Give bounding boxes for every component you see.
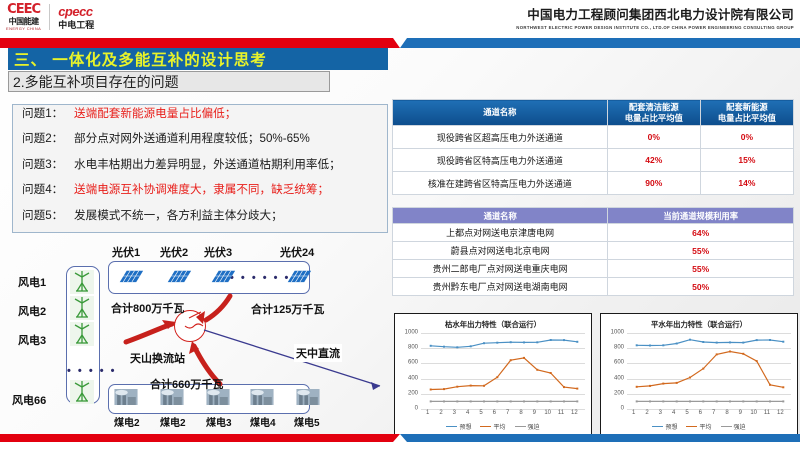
chart-legend-item: 平均 <box>686 422 711 431</box>
table-cell-channel-name: 核准在建跨省区特高压电力外送通道 <box>393 172 608 195</box>
chart-x-tick-label: 6 <box>699 410 702 416</box>
chart-legend-label: 强迫 <box>528 422 540 431</box>
chart-y-tick-label: 0 <box>396 406 418 412</box>
chart-legend-label: 平均 <box>493 422 505 431</box>
problem-label: 问题5： <box>22 207 74 223</box>
header-accent-notch <box>393 38 407 48</box>
chart-data-point <box>702 341 704 343</box>
chart-data-point <box>443 388 445 390</box>
chart-data-point <box>456 400 458 402</box>
chart-data-point <box>716 353 718 355</box>
table-cell-new-share: 0% <box>700 126 793 149</box>
chart-data-point <box>443 400 445 402</box>
table-column-header: 当前通道规模利用率 <box>608 208 794 224</box>
table-row: 贵州二郎电厂点对网送电重庆电网55% <box>393 260 794 278</box>
coal-plant-label: 煤电2 <box>160 414 186 429</box>
chart-data-point <box>782 400 784 402</box>
chart-series-layer <box>421 333 587 409</box>
problem-label: 问题1： <box>22 105 74 121</box>
chart-data-point <box>782 386 784 388</box>
chart-legend-label: 平均 <box>699 422 711 431</box>
footer-accent-notch <box>393 434 407 442</box>
table-row: 现役跨省区特高压电力外送通道42%15% <box>393 149 794 172</box>
wind-farm-label: 风电2 <box>18 303 46 319</box>
chart-legend-swatch <box>721 426 732 427</box>
chart-data-point <box>536 400 538 402</box>
table-cell-channel-name: 贵州黔东电厂点对网送电湖南电网 <box>393 278 608 296</box>
wind-farm-label: 风电1 <box>18 274 46 290</box>
chart-data-point <box>702 400 704 402</box>
cpecc-mark-text: cpecc <box>58 5 94 18</box>
chart-data-point <box>702 368 704 370</box>
problem-text: 发展模式不统一，各方利益主体分歧大； <box>74 207 283 223</box>
chart-data-point <box>742 342 744 344</box>
table-column-header-line: 电量占比平均值 <box>608 113 700 123</box>
chart-x-tick-label: 3 <box>453 410 456 416</box>
table-column-header: 通道名称 <box>393 208 608 224</box>
chart-x-tick-label: 4 <box>672 410 675 416</box>
table-row: 蔚县点对网送电北京电网55% <box>393 242 794 260</box>
chart-data-point <box>563 339 565 341</box>
chart-y-tick-label: 600 <box>602 360 624 366</box>
table-header-row: 通道名称配套清洁能源电量占比平均值配套新能源电量占比平均值 <box>393 100 794 126</box>
table-cell-clean-share: 90% <box>607 172 700 195</box>
chart-x-tick-label: 11 <box>558 410 564 416</box>
table-column-header-line: 配套清洁能源 <box>608 102 700 112</box>
footer-base <box>0 442 800 450</box>
wind-turbine-icon <box>70 270 94 294</box>
pv-plant-label: 光伏3 <box>204 244 232 260</box>
problem-item: 问题5：发展模式不统一，各方利益主体分歧大； <box>13 207 387 232</box>
chart-y-tick-label: 400 <box>396 375 418 381</box>
chart-legend-swatch <box>515 426 526 427</box>
chart-data-point <box>483 400 485 402</box>
chart-data-point <box>550 400 552 402</box>
chart-data-point <box>523 357 525 359</box>
chart-x-tick-label: 2 <box>645 410 648 416</box>
problem-label: 问题3： <box>22 156 74 172</box>
channel-utilization-table: 通道名称当前通道规模利用率 上都点对网送电京津唐电网64%蔚县点对网送电北京电网… <box>392 207 794 296</box>
chart-y-tick-label: 200 <box>396 390 418 396</box>
chart-legend-swatch <box>652 426 663 427</box>
company-name-en: NORTHWEST ELECTRIC POWER DESIGN INSTITUT… <box>516 25 794 30</box>
chart-data-point <box>756 339 758 341</box>
chart-y-tick-label: 400 <box>602 375 624 381</box>
table-row: 上都点对网送电京津唐电网64% <box>393 224 794 242</box>
chart-data-point <box>649 400 651 402</box>
chart-data-point <box>756 360 758 362</box>
coal-plant-label: 煤电2 <box>114 414 140 429</box>
chart-legend-item: 预想 <box>652 422 677 431</box>
chart-x-tick-label: 5 <box>685 410 688 416</box>
table-cell-utilization-rate: 50% <box>608 278 794 296</box>
chart-data-point <box>576 341 578 343</box>
chart-x-tick-label: 12 <box>571 410 578 416</box>
table-cell-clean-share: 0% <box>607 126 700 149</box>
chart-data-point <box>649 345 651 347</box>
chart-series-line <box>431 358 578 390</box>
problem-text: 水电丰枯期出力差异明显，外送通道枯期利用率低； <box>74 156 341 172</box>
chart-series-line <box>637 340 784 346</box>
chart-plot-area: 02004006008001000 <box>421 333 587 409</box>
coal-plant-label: 煤电5 <box>294 414 320 429</box>
chart-legend-item: 平均 <box>480 422 505 431</box>
chart-legend-label: 预想 <box>459 422 471 431</box>
coal-plant-icon <box>250 389 274 405</box>
table-cell-channel-name: 上都点对网送电京津唐电网 <box>393 224 608 242</box>
chart-legend-item: 强迫 <box>515 422 540 431</box>
chart-series-layer <box>627 333 793 409</box>
chart-y-tick-label: 800 <box>602 345 624 351</box>
power-system-diagram: 风电1风电2风电3风电66• • • • •光伏1光伏2光伏3光伏24• • •… <box>8 234 390 430</box>
solar-panel-icon <box>118 268 144 284</box>
chart-legend-swatch <box>446 426 457 427</box>
problem-text: 部分点对网外送通道利用程度较低；50%-65% <box>74 130 310 146</box>
chart-data-point <box>536 369 538 371</box>
chart-data-point <box>676 382 678 384</box>
table-cell-utilization-rate: 55% <box>608 242 794 260</box>
chart-data-point <box>756 400 758 402</box>
chart-data-point <box>496 400 498 402</box>
chart-data-point <box>443 346 445 348</box>
chart-data-point <box>563 386 565 388</box>
logo-divider <box>49 4 50 30</box>
table-cell-utilization-rate: 64% <box>608 224 794 242</box>
table-row: 核准在建跨省区特高压电力外送通道90%14% <box>393 172 794 195</box>
chart-data-point <box>470 400 472 402</box>
table-column-header: 配套清洁能源电量占比平均值 <box>607 100 700 126</box>
chart-series-line <box>637 352 784 388</box>
ceec-logo: CEEC 中国能建 ENERGY CHINA <box>6 3 41 31</box>
footer-accent-bar-red <box>0 434 400 442</box>
chart-data-point <box>550 339 552 341</box>
wind-turbine-icon <box>70 322 94 346</box>
chart-x-tick-label: 10 <box>750 410 757 416</box>
diagram-connectors <box>8 234 390 430</box>
chart-data-point <box>689 400 691 402</box>
chart-data-point <box>689 377 691 379</box>
chart-data-point <box>550 372 552 374</box>
chart-series-line <box>431 340 578 347</box>
converter-station-label: 天山换流站 <box>130 350 185 366</box>
table-row: 现役跨省区超高压电力外送通道0%0% <box>393 126 794 149</box>
chart-x-tick-label: 9 <box>533 410 536 416</box>
slide: CEEC 中国能建 ENERGY CHINA cpecc 中电工程 中国电力工程… <box>0 0 800 450</box>
chart-plot-area: 02004006008001000 <box>627 333 793 409</box>
chart-data-point <box>496 342 498 344</box>
wind-farm-label: 风电66 <box>12 392 46 408</box>
problem-label: 问题4： <box>22 181 74 197</box>
header-accent-bar-red <box>0 38 400 48</box>
chart-data-point <box>470 385 472 387</box>
pv-plant-label: 光伏24 <box>280 244 314 260</box>
chart-data-point <box>470 345 472 347</box>
chart-data-point <box>676 343 678 345</box>
sub-title: 2.多能互补项目存在的问题 <box>8 71 330 92</box>
chart-legend: 预想平均强迫 <box>395 422 591 431</box>
solar-panel-icon <box>210 268 236 284</box>
coal-plant-icon <box>206 389 230 405</box>
ceec-mark-text: CEEC <box>7 3 40 16</box>
chart-data-point <box>742 400 744 402</box>
problem-item: 问题1：送端配套新能源电量占比偏低； <box>13 105 387 130</box>
chart-legend-item: 预想 <box>446 422 471 431</box>
chart-legend-item: 强迫 <box>721 422 746 431</box>
chart-data-point <box>510 400 512 402</box>
table-row: 贵州黔东电厂点对网送电湖南电网50% <box>393 278 794 296</box>
company-name-block: 中国电力工程顾问集团西北电力设计院有限公司 NORTHWEST ELECTRIC… <box>516 4 794 30</box>
chart-data-point <box>769 400 771 402</box>
chart-y-tick-label: 1000 <box>396 330 418 336</box>
logo-group: CEEC 中国能建 ENERGY CHINA cpecc 中电工程 <box>6 3 94 31</box>
dc-line-label: 天中直流 <box>294 344 342 362</box>
chart-data-point <box>782 341 784 343</box>
sub-title-text: 2.多能互补项目存在的问题 <box>9 72 179 92</box>
wind-turbine-icon <box>70 380 94 404</box>
chart-data-point <box>510 359 512 361</box>
footer-accent-bar-blue <box>400 434 800 442</box>
solar-panel-icon <box>286 268 312 284</box>
chart-data-point <box>576 400 578 402</box>
wind-turbine-icon <box>70 296 94 320</box>
chart-data-point <box>483 342 485 344</box>
chart-legend-swatch <box>686 426 697 427</box>
chart-legend-swatch <box>480 426 491 427</box>
chart-x-tick-label: 10 <box>544 410 551 416</box>
chart-data-point <box>716 342 718 344</box>
chart-data-point <box>576 388 578 390</box>
problem-item: 问题2：部分点对网外送通道利用程度较低；50%-65% <box>13 130 387 155</box>
pv-dots-label: • • • • • • <box>230 272 290 284</box>
chart-data-point <box>729 341 731 343</box>
chart-x-tick-label: 8 <box>725 410 728 416</box>
chart-data-point <box>769 384 771 386</box>
header-accent-bar-blue <box>400 38 800 48</box>
coal-plant-label: 煤电4 <box>250 414 276 429</box>
chart-y-tick-label: 800 <box>396 345 418 351</box>
wind-farm-label: 风电3 <box>18 332 46 348</box>
table-cell-clean-share: 42% <box>607 149 700 172</box>
chart-data-point <box>430 389 432 391</box>
table-column-header-line: 通道名称 <box>393 107 607 117</box>
chart-x-tick-label: 2 <box>439 410 442 416</box>
wind-dots-label: • • • • • <box>67 365 116 377</box>
chart-data-point <box>496 376 498 378</box>
chart-legend-label: 预想 <box>665 422 677 431</box>
chart-data-point <box>729 400 731 402</box>
chart-x-tick-label: 4 <box>466 410 469 416</box>
chart-x-tick-label: 1 <box>426 410 429 416</box>
problem-list: 问题1：送端配套新能源电量占比偏低；问题2：部分点对网外送通道利用程度较低；50… <box>12 104 388 233</box>
problem-text: 送端配套新能源电量占比偏低； <box>74 105 236 121</box>
coal-plant-icon <box>296 389 320 405</box>
pv-plant-label: 光伏2 <box>160 244 188 260</box>
company-name-cn: 中国电力工程顾问集团西北电力设计院有限公司 <box>516 4 794 23</box>
section-title: 三、 一体化及多能互补的设计思考 <box>8 48 388 70</box>
coal-plant-icon <box>114 389 138 405</box>
table-cell-channel-name: 现役跨省区特高压电力外送通道 <box>393 149 608 172</box>
problem-text: 送端电源互补协调难度大，隶属不同，缺乏统筹； <box>74 181 329 197</box>
chart-data-point <box>523 400 525 402</box>
chart-data-point <box>769 339 771 341</box>
chart-x-tick-label: 7 <box>506 410 509 416</box>
chart-y-tick-label: 0 <box>602 406 624 412</box>
table-column-header: 通道名称 <box>393 100 608 126</box>
table-cell-channel-name: 贵州二郎电厂点对网送电重庆电网 <box>393 260 608 278</box>
chart-data-point <box>636 344 638 346</box>
chart-data-point <box>536 341 538 343</box>
chart-data-point <box>662 400 664 402</box>
coal-plant-icon <box>160 389 184 405</box>
chart-x-tick-label: 6 <box>493 410 496 416</box>
ceec-chinese-name: 中国能建 <box>9 18 39 26</box>
wind-total-label: 合计800万千瓦 <box>111 300 184 316</box>
chart-data-point <box>430 400 432 402</box>
pv-plant-label: 光伏1 <box>112 244 140 260</box>
chart-dry-year: 枯水年出力特性（联合运行）020040060080010001234567891… <box>394 313 592 438</box>
coal-plant-label: 煤电3 <box>206 414 232 429</box>
cpecc-logo: cpecc 中电工程 <box>58 5 94 30</box>
table-cell-utilization-rate: 55% <box>608 260 794 278</box>
solar-panel-icon <box>166 268 192 284</box>
chart-data-point <box>649 385 651 387</box>
chart-title: 平水年出力特性（联合运行） <box>601 314 797 330</box>
chart-x-tick-label: 3 <box>659 410 662 416</box>
table-column-header-line: 电量占比平均值 <box>701 113 793 123</box>
chart-title: 枯水年出力特性（联合运行） <box>395 314 591 330</box>
chart-data-point <box>689 339 691 341</box>
ceec-english-name: ENERGY CHINA <box>6 27 41 31</box>
chart-y-tick-label: 600 <box>396 360 418 366</box>
chart-y-tick-label: 200 <box>602 390 624 396</box>
pv-total-label: 合计125万千瓦 <box>251 301 324 317</box>
chart-legend-label: 强迫 <box>734 422 746 431</box>
chart-data-point <box>662 344 664 346</box>
chart-y-tick-label: 1000 <box>602 330 624 336</box>
chart-data-point <box>636 386 638 388</box>
chart-data-point <box>662 383 664 385</box>
chart-data-point <box>716 400 718 402</box>
chart-x-tick-label: 9 <box>739 410 742 416</box>
table-cell-channel-name: 蔚县点对网送电北京电网 <box>393 242 608 260</box>
table-cell-new-share: 15% <box>700 149 793 172</box>
chart-x-axis: 123456789101112 <box>627 410 793 420</box>
channel-clean-energy-table: 通道名称配套清洁能源电量占比平均值配套新能源电量占比平均值 现役跨省区超高压电力… <box>392 99 794 195</box>
chart-x-tick-label: 12 <box>777 410 784 416</box>
chart-data-point <box>729 351 731 353</box>
problem-item: 问题3：水电丰枯期出力差异明显，外送通道枯期利用率低； <box>13 156 387 181</box>
table-cell-new-share: 14% <box>700 172 793 195</box>
chart-data-point <box>483 385 485 387</box>
chart-x-axis: 123456789101112 <box>421 410 587 420</box>
cpecc-chinese-name: 中电工程 <box>58 21 94 30</box>
chart-data-point <box>456 386 458 388</box>
chart-data-point <box>523 341 525 343</box>
chart-x-tick-label: 11 <box>764 410 770 416</box>
chart-data-point <box>676 400 678 402</box>
section-title-text: 三、 一体化及多能互补的设计思考 <box>8 48 267 70</box>
chart-x-tick-label: 8 <box>519 410 522 416</box>
chart-data-point <box>510 341 512 343</box>
chart-legend: 预想平均强迫 <box>601 422 797 431</box>
chart-x-tick-label: 7 <box>712 410 715 416</box>
chart-data-point <box>742 353 744 355</box>
chart-data-point <box>563 400 565 402</box>
table-column-header: 配套新能源电量占比平均值 <box>700 100 793 126</box>
chart-data-point <box>636 400 638 402</box>
chart-x-tick-label: 1 <box>632 410 635 416</box>
slide-header: CEEC 中国能建 ENERGY CHINA cpecc 中电工程 中国电力工程… <box>0 0 800 38</box>
table-column-header-line: 配套新能源 <box>701 102 793 112</box>
chart-normal-year: 平水年出力特性（联合运行）020040060080010001234567891… <box>600 313 798 438</box>
chart-data-point <box>456 346 458 348</box>
table-header-row: 通道名称当前通道规模利用率 <box>393 208 794 224</box>
chart-data-point <box>430 345 432 347</box>
problem-label: 问题2： <box>22 130 74 146</box>
chart-x-tick-label: 5 <box>479 410 482 416</box>
problem-item: 问题4：送端电源互补协调难度大，隶属不同，缺乏统筹； <box>13 181 387 206</box>
table-cell-channel-name: 现役跨省区超高压电力外送通道 <box>393 126 608 149</box>
